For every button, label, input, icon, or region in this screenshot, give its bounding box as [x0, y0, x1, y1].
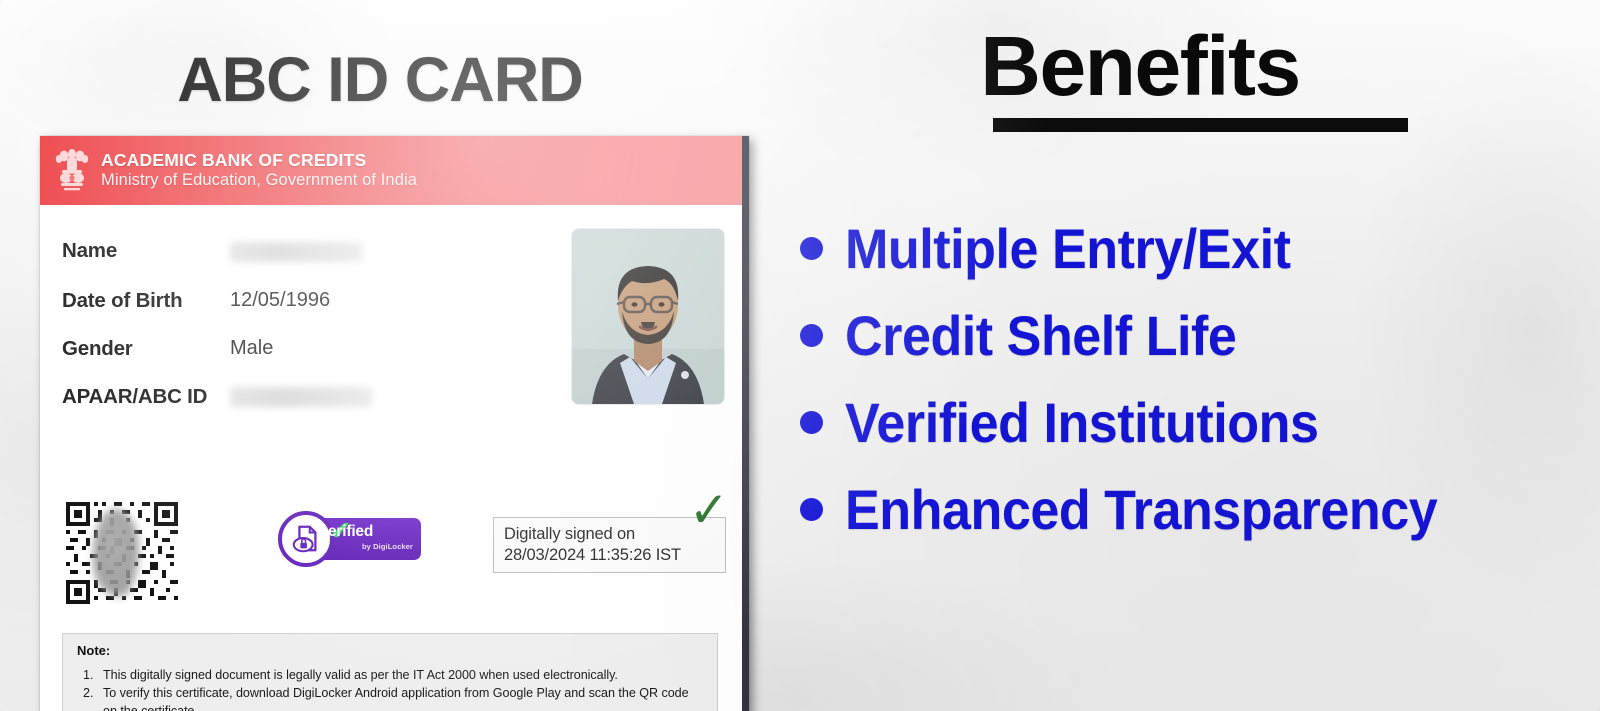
signature-verified-check-icon: ✓ [689, 485, 729, 535]
badge-label: erified [328, 524, 420, 540]
card-header-band: ACADEMIC BANK OF CREDITS Ministry of Edu… [40, 136, 742, 205]
benefits-heading: Benefits [790, 24, 1490, 108]
field-label: Gender [62, 337, 230, 361]
benefit-label: Credit Shelf Life [845, 303, 1236, 368]
page-title: ABC ID CARD [0, 44, 760, 116]
field-row-name: Name [62, 239, 522, 265]
benefit-item-credit-shelf-life: Credit Shelf Life [790, 303, 1600, 368]
benefit-label: Multiple Entry/Exit [845, 216, 1290, 281]
cardholder-photo [572, 229, 724, 404]
benefit-label: Verified Institutions [845, 390, 1318, 455]
benefit-item-multiple-entry-exit: Multiple Entry/Exit [790, 216, 1600, 281]
org-ministry: Ministry of Education, Government of Ind… [101, 171, 417, 189]
card-fields: Name Date of Birth 12/05/1996 Gender Mal… [62, 239, 522, 411]
bullet-icon [800, 324, 823, 347]
benefits-heading-underline [993, 118, 1408, 132]
note-item: This digitally signed document is legall… [77, 667, 705, 685]
bullet-icon [800, 498, 823, 521]
note-list: This digitally signed document is legall… [77, 667, 705, 711]
bullet-icon [800, 237, 823, 260]
qr-code-icon [62, 498, 182, 608]
note-title: Note: [77, 643, 705, 658]
benefit-item-enhanced-transparency: Enhanced Transparency [790, 477, 1600, 542]
abc-id-card-panel: ABC ID CARD [0, 0, 790, 711]
field-label: Name [62, 239, 230, 263]
field-value: 12/05/1996 [230, 289, 330, 312]
card-body: Name Date of Birth 12/05/1996 Gender Mal… [40, 205, 742, 711]
note-item: To verify this certificate, download Dig… [77, 685, 705, 711]
qr-redaction-smudge [93, 509, 139, 597]
benefits-panel: Benefits Multiple Entry/Exit Credit Shel… [790, 0, 1600, 711]
note-panel: Note: This digitally signed document is … [62, 633, 718, 711]
india-national-emblem-icon [54, 145, 90, 197]
field-label: Date of Birth [62, 289, 230, 313]
field-value: Male [230, 337, 273, 360]
field-row-abc-id: APAAR/ABC ID [62, 385, 522, 411]
bullet-icon [800, 411, 823, 434]
signature-line-2: 28/03/2024 11:35:26 IST [504, 545, 725, 566]
field-value-redacted [230, 239, 362, 265]
digilocker-verified-badge: ✔ erified by DigiLocker [278, 511, 421, 566]
badge-sublabel: by DigiLocker [362, 542, 413, 551]
benefit-item-verified-institutions: Verified Institutions [790, 390, 1600, 455]
field-label: APAAR/ABC ID [62, 385, 230, 409]
org-name: ACADEMIC BANK OF CREDITS [101, 151, 417, 171]
benefit-label: Enhanced Transparency [845, 477, 1437, 542]
slide-canvas: ABC ID CARD [0, 0, 1600, 711]
benefits-list: Multiple Entry/Exit Credit Shelf Life Ve… [790, 216, 1600, 564]
field-row-dob: Date of Birth 12/05/1996 [62, 289, 522, 313]
id-card-document: ACADEMIC BANK OF CREDITS Ministry of Edu… [40, 136, 749, 711]
card-org-text: ACADEMIC BANK OF CREDITS Ministry of Edu… [101, 151, 417, 189]
field-row-gender: Gender Male [62, 337, 522, 361]
digilocker-document-lock-icon [278, 511, 334, 567]
field-value-redacted [230, 385, 372, 411]
